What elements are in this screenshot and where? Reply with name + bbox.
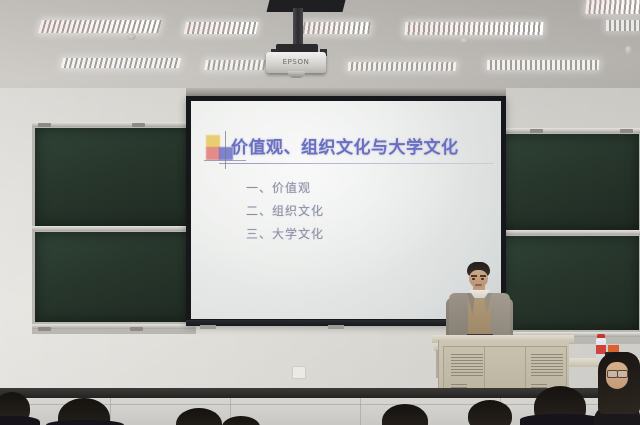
- console-vent: [467, 354, 483, 376]
- chalkboard-left: [32, 122, 196, 334]
- smoke-detector-icon: [127, 34, 136, 40]
- ceiling-light: [585, 0, 640, 14]
- wall-outlet[interactable]: [292, 366, 306, 379]
- slide-bullet-item: 三、大学文化: [246, 223, 324, 246]
- ceiling-shading: [0, 0, 640, 92]
- ceiling-light: [184, 22, 259, 34]
- slide-title: 价值观、组织文化与大学文化: [231, 137, 501, 159]
- console-vent: [547, 354, 563, 376]
- screen-foot: [200, 325, 216, 329]
- audience-shoulders: [46, 420, 124, 425]
- board-clip: [130, 327, 143, 331]
- ceiling-light: [204, 60, 266, 70]
- smoke-detector-icon: [460, 38, 469, 44]
- slide-title-underline: [219, 163, 494, 164]
- board-clip: [38, 327, 51, 331]
- ceiling-light: [348, 62, 457, 71]
- audience-member-right: [592, 352, 640, 425]
- projector-ceiling-plate: [267, 0, 346, 12]
- ceiling-light: [61, 58, 181, 68]
- board-clip: [132, 123, 145, 127]
- ceiling-light: [405, 22, 544, 35]
- slide-bullet-item: 一、价值观: [246, 177, 324, 200]
- wall-fixture-icon: [625, 46, 632, 55]
- lecturer-brow: [480, 275, 486, 277]
- ceiling-light: [299, 22, 371, 34]
- board-clip: [38, 123, 51, 127]
- ceiling-light: [487, 60, 600, 70]
- lecture-hall-photo: EPSON: [0, 0, 640, 425]
- projector-brand-label: EPSON: [266, 58, 326, 66]
- lecturer-brow: [471, 275, 477, 277]
- audience-shoulders: [0, 416, 40, 425]
- deco-line-horizontal: [204, 160, 246, 161]
- ceiling-light: [38, 20, 162, 33]
- lecturer-eye: [481, 278, 484, 280]
- deco-square-red: [206, 147, 220, 160]
- console-vent: [531, 354, 547, 376]
- projector-pole: [293, 8, 303, 46]
- slide-bullet-item: 二、组织文化: [246, 200, 324, 223]
- audience-shoulders: [520, 414, 602, 425]
- screen-foot: [328, 325, 344, 329]
- board-clip: [530, 129, 543, 133]
- eyeglasses-icon: [617, 370, 628, 378]
- console-vent: [451, 354, 467, 376]
- audience-head: [468, 400, 512, 425]
- board-clip: [620, 129, 633, 133]
- ceiling-light: [606, 20, 640, 31]
- lecturer-eye: [472, 278, 475, 280]
- slide-bullet-list: 一、价值观 二、组织文化 三、大学文化: [246, 177, 324, 246]
- lecturer-mouth: [475, 284, 482, 286]
- floor-tile-line: [360, 398, 361, 425]
